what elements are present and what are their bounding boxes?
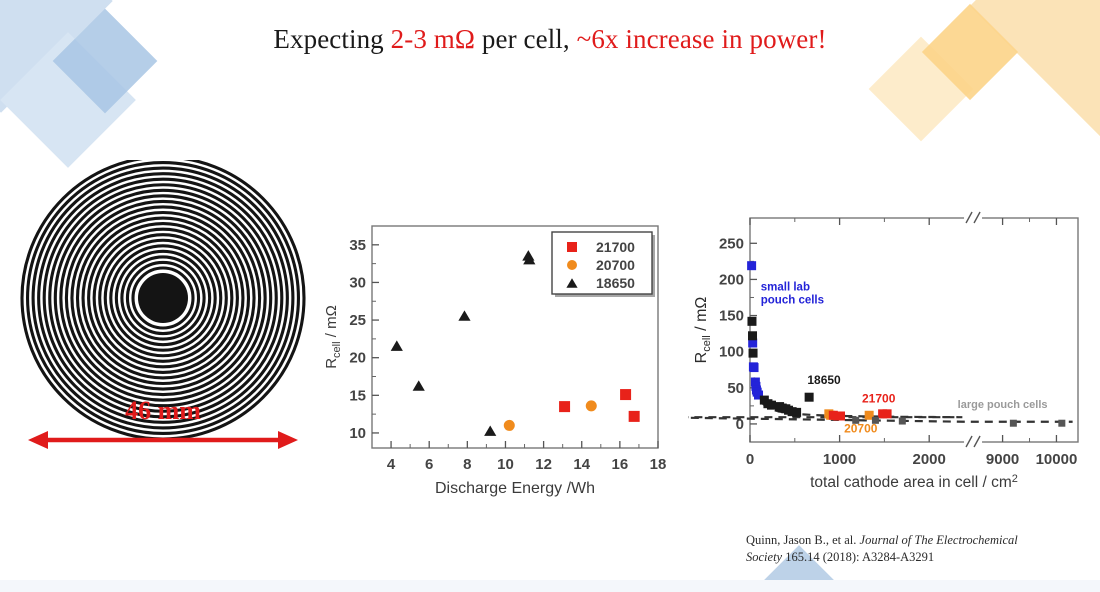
x-tick-label: 9000: [986, 451, 1019, 468]
svg-text:Rcell / mΩ: Rcell / mΩ: [323, 305, 343, 369]
jellyroll-figure: 46 mm: [18, 160, 308, 480]
citation-journal-1: Journal of The Electrochemical: [860, 533, 1018, 547]
data-point: [747, 317, 756, 326]
series-21700: [559, 389, 640, 422]
annotation-20700: 20700: [844, 422, 878, 436]
data-point-21700: [629, 411, 640, 422]
x-tick-label: 10000: [1036, 451, 1078, 468]
annotation-18650: 18650: [807, 373, 841, 387]
data-point-18650: [484, 425, 496, 435]
y-tick-label: 35: [349, 237, 366, 254]
data-point: [899, 418, 906, 425]
x-tick-label: 14: [573, 456, 590, 473]
bottom-edge-rule: [0, 580, 1100, 592]
data-point-18650: [458, 310, 470, 320]
y-tick-label: 25: [349, 312, 366, 329]
data-point: [767, 401, 776, 410]
legend-marker-21700: [567, 242, 577, 252]
data-point: [836, 411, 845, 420]
svg-text:total cathode area in cell / c: total cathode area in cell / cm2: [810, 473, 1018, 491]
y-tick-label: 30: [349, 274, 366, 291]
data-point: [1058, 420, 1065, 427]
data-point: [792, 408, 801, 417]
citation: Quinn, Jason B., et al. Journal of The E…: [746, 532, 1086, 566]
x-tick-label: 18: [650, 456, 667, 473]
series-21700: [829, 409, 892, 420]
data-point-21700: [559, 401, 570, 412]
citation-authors: Quinn, Jason B., et al.: [746, 533, 856, 547]
citation-volume: 165.14 (2018): A3284-A3291: [785, 550, 934, 564]
x-axis-label: total cathode area in cell / cm2: [810, 473, 1018, 491]
annotation-large-pouch-cells: large pouch cells: [958, 399, 1048, 411]
title-segment-2: per cell,: [475, 24, 577, 54]
y-tick-label: 50: [727, 380, 744, 397]
data-point-20700: [504, 420, 515, 431]
data-point-21700: [620, 389, 631, 400]
x-tick-label: 0: [746, 451, 754, 468]
x-axis-label: Discharge Energy /Wh: [435, 480, 595, 497]
data-point-18650: [413, 380, 425, 390]
x-tick-label: 16: [612, 456, 629, 473]
legend-marker-20700: [567, 260, 577, 270]
title-segment-3: ~6x increase in power!: [577, 24, 827, 54]
axis-break-mark: [964, 212, 982, 223]
data-point: [748, 331, 757, 340]
title-segment-1: 2-3 mΩ: [391, 24, 475, 54]
y-tick-label: 10: [349, 425, 366, 442]
data-point: [883, 409, 892, 418]
data-point: [747, 261, 756, 270]
data-point: [1010, 420, 1017, 427]
y-tick-label: 150: [719, 308, 744, 325]
y-axis-label: Rcell / mΩ: [693, 297, 713, 364]
legend-label-20700: 20700: [596, 257, 635, 273]
axis-break-mark: [964, 436, 982, 447]
annotation-small-lab-pouch-cells: pouch cells: [761, 294, 824, 306]
citation-journal-2: Society: [746, 550, 782, 564]
chart-cathode-area: 050100150200250010002000900010000total c…: [688, 200, 1088, 510]
svg-text:Rcell / mΩ: Rcell / mΩ: [693, 297, 713, 364]
series-18650: [391, 250, 536, 436]
x-tick-label: 1000: [823, 451, 856, 468]
chart-discharge-energy: 1015202530354681012141618Discharge Energ…: [320, 208, 670, 508]
slide-title: Expecting 2-3 mΩ per cell, ~6x increase …: [0, 24, 1100, 55]
data-point: [749, 349, 758, 358]
data-point: [750, 363, 759, 372]
x-tick-label: 12: [535, 456, 552, 473]
y-tick-label: 15: [349, 387, 366, 404]
legend-label-18650: 18650: [596, 275, 635, 291]
dimension-label: 46 mm: [18, 396, 308, 426]
jellyroll-diagram: [18, 160, 308, 480]
title-segment-0: Expecting: [273, 24, 390, 54]
data-point-20700: [586, 400, 597, 411]
y-tick-label: 200: [719, 271, 744, 288]
y-tick-label: 100: [719, 344, 744, 361]
y-tick-label: 20: [349, 350, 366, 367]
data-point: [805, 393, 814, 402]
data-point-18650: [391, 340, 403, 350]
x-tick-label: 10: [497, 456, 514, 473]
annotation-21700: 21700: [862, 391, 896, 405]
x-tick-label: 4: [387, 456, 396, 473]
y-axis-label: Rcell / mΩ: [323, 305, 343, 369]
x-tick-label: 8: [463, 456, 471, 473]
jellyroll-core: [138, 273, 188, 323]
annotation-small-lab-pouch-cells: small lab: [761, 281, 810, 293]
x-tick-label: 2000: [913, 451, 946, 468]
slide-root: Expecting 2-3 mΩ per cell, ~6x increase …: [0, 0, 1100, 592]
series-20700: [504, 400, 597, 431]
legend-label-21700: 21700: [596, 239, 635, 255]
x-tick-label: 6: [425, 456, 433, 473]
y-tick-label: 250: [719, 235, 744, 252]
